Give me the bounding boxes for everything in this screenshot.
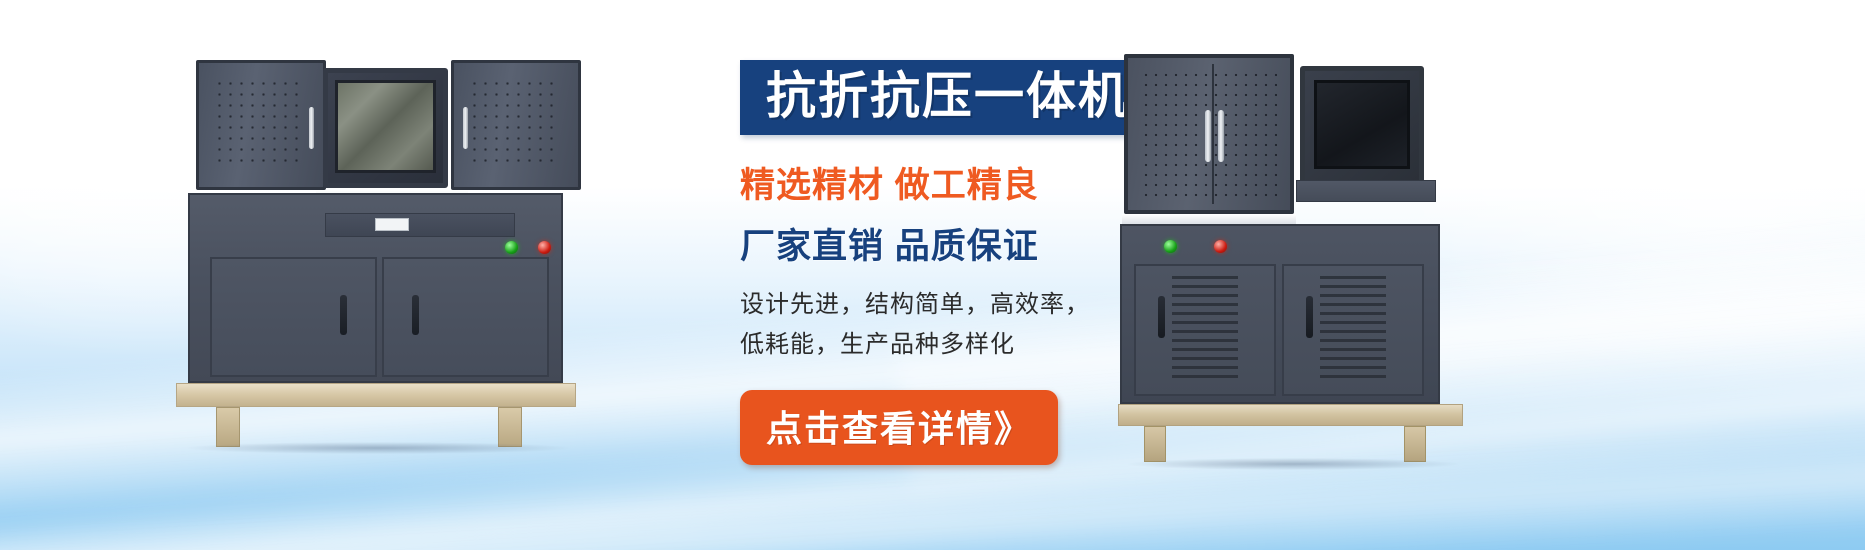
right-machine-upper-cabinet (1124, 54, 1294, 214)
product-image-left (168, 50, 588, 440)
left-machine-label-plate (375, 218, 409, 231)
left-machine-pallet (176, 383, 576, 407)
cabinet-handle (1205, 110, 1211, 162)
indicator-light-green-icon (1164, 240, 1177, 253)
left-machine-pallet-foot (498, 407, 522, 447)
cabinet-handle (1218, 110, 1224, 162)
cabinet-handle (463, 107, 468, 149)
right-machine-monitor (1300, 66, 1424, 186)
left-machine-shadow (188, 442, 568, 454)
right-machine-pallet (1118, 404, 1463, 426)
indicator-light-green-icon (505, 241, 518, 254)
door-handle-icon (1306, 296, 1313, 338)
cabinet-handle (309, 107, 314, 149)
perforation-pattern-icon (214, 78, 303, 170)
door-handle-icon (412, 295, 419, 335)
ventilation-slots-icon (1172, 276, 1238, 384)
right-machine-base-cabinet (1120, 224, 1440, 404)
right-machine-lower-door-right (1282, 264, 1424, 396)
monitor-screen (335, 80, 436, 173)
ventilation-slots-icon (1320, 276, 1386, 384)
left-machine-top-left-cabinet (196, 60, 326, 190)
left-machine-lower-door-right (382, 257, 549, 377)
right-machine-pallet-foot (1144, 426, 1166, 462)
right-machine-pallet-foot (1404, 426, 1426, 462)
door-handle-icon (1158, 296, 1165, 338)
right-machine-shadow (1128, 458, 1458, 470)
page-title: 抗折抗压一体机 (766, 71, 1130, 121)
indicator-light-red-icon (538, 241, 551, 254)
indicator-light-red-icon (1214, 240, 1227, 253)
view-details-button-label: 点击查看详情》 (766, 408, 1032, 449)
view-details-button[interactable]: 点击查看详情》 (740, 390, 1058, 465)
perforation-pattern-icon (469, 78, 558, 170)
left-machine-control-strip (325, 213, 515, 237)
left-machine-base-cabinet (188, 193, 563, 383)
cabinet-door-seam (1212, 64, 1214, 204)
door-handle-icon (340, 295, 347, 335)
promo-banner: 抗折抗压一体机 精选精材 做工精良 厂家直销 品质保证 设计先进，结构简单，高效… (0, 0, 1865, 550)
left-machine-pallet-foot (216, 407, 240, 447)
right-machine-monitor-deck (1296, 180, 1436, 202)
monitor-screen (1314, 80, 1410, 169)
left-machine-monitor (323, 68, 448, 188)
product-image-right (1118, 46, 1478, 446)
headline-banner: 抗折抗压一体机 (740, 60, 1156, 135)
right-machine-lower-door-left (1134, 264, 1276, 396)
left-machine-lower-door-left (210, 257, 377, 377)
left-machine-top-right-cabinet (451, 60, 581, 190)
